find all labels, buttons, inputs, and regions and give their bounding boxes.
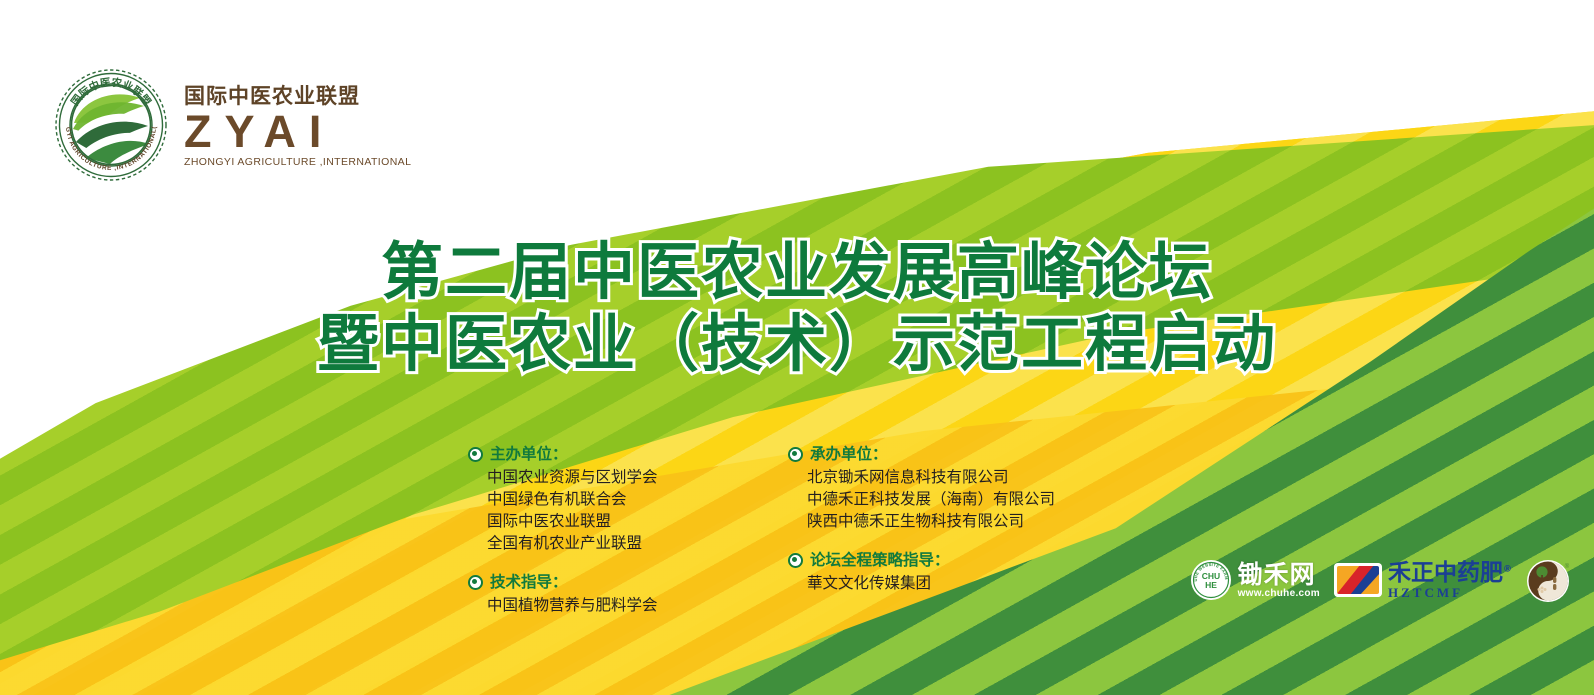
- organizer-heading-coorganizer: 承办单位：: [788, 444, 1060, 465]
- list-item: 中德禾正科技发展（海南）有限公司: [788, 488, 1060, 510]
- zyai-wordmark-cn: 国际中医农业联盟: [184, 86, 411, 107]
- organizer-group-host: 主办单位： 中国农业资源与区划学会 中国绿色有机联合会 国际中医农业联盟 全国有…: [468, 444, 740, 554]
- bullet-icon: [468, 447, 483, 462]
- hztcmf-mark-icon: [1334, 563, 1382, 597]
- list-item: 中国农业资源与区划学会: [468, 466, 740, 488]
- event-title-line-1-text: 第二届中医农业发展高峰论坛: [381, 235, 1213, 308]
- bullet-icon: [468, 575, 483, 590]
- organizer-heading-host: 主办单位：: [468, 444, 740, 465]
- organizer-heading-coorganizer-text: 承办单位：: [810, 444, 888, 465]
- list-item: 華文文化传媒集团: [788, 572, 1060, 594]
- list-item: 中国绿色有机联合会: [468, 488, 740, 510]
- sponsor-chuhe: CHUHE WEBSITE FARMING CHU HE 锄禾网 www.chu…: [1190, 559, 1320, 601]
- organizer-heading-tech-guidance-text: 技术指导：: [490, 572, 568, 593]
- organizer-group-coorganizer: 承办单位： 北京锄禾网信息科技有限公司 中德禾正科技发展（海南）有限公司 陕西中…: [788, 444, 1060, 532]
- hztcmf-name: 禾正中药肥®: [1388, 562, 1512, 585]
- sponsor-logos: CHUHE WEBSITE FARMING CHU HE 锄禾网 www.chu…: [1190, 557, 1572, 603]
- zyai-wordmark-abbr: ZYAI: [184, 109, 411, 154]
- organizer-column-left: 主办单位： 中国农业资源与区划学会 中国绿色有机联合会 国际中医农业联盟 全国有…: [468, 444, 740, 634]
- conference-banner: 国际中医农业联盟 ZHONGYI AGRICULTURE ,INTERNATIO…: [0, 0, 1594, 695]
- organizer-group-tech-guidance: 技术指导： 中国植物营养与肥料学会: [468, 572, 740, 616]
- organizer-heading-host-text: 主办单位：: [490, 444, 568, 465]
- event-title-line-1: 第二届中医农业发展高峰论坛: [0, 236, 1594, 308]
- event-title-line-2-text: 暨中医农业（技术）示范工程启动: [317, 307, 1277, 380]
- organizer-info: 主办单位： 中国农业资源与区划学会 中国绿色有机联合会 国际中医农业联盟 全国有…: [468, 444, 1060, 634]
- chuhe-seal-icon: CHUHE WEBSITE FARMING CHU HE: [1190, 559, 1232, 601]
- list-item: 北京锄禾网信息科技有限公司: [788, 466, 1060, 488]
- svg-text:HE: HE: [1205, 580, 1217, 590]
- hztcmf-abbr: HZTCMF: [1388, 586, 1512, 599]
- sponsor-hztcmf: 禾正中药肥® HZTCMF: [1334, 562, 1512, 599]
- list-item: 中国植物营养与肥料学会: [468, 594, 740, 616]
- organizer-group-strategy: 论坛全程策略指导： 華文文化传媒集团: [788, 550, 1060, 594]
- organizer-heading-strategy-text: 论坛全程策略指导：: [810, 550, 950, 571]
- sponsor-yinyang-tree-seal-icon: ®: [1526, 557, 1572, 603]
- organizer-column-right: 承办单位： 北京锄禾网信息科技有限公司 中德禾正科技发展（海南）有限公司 陕西中…: [788, 444, 1060, 634]
- list-item: 国际中医农业联盟: [468, 510, 740, 532]
- organizer-heading-tech-guidance: 技术指导：: [468, 572, 740, 593]
- hztcmf-text-block: 禾正中药肥® HZTCMF: [1388, 562, 1512, 599]
- chuhe-text-block: 锄禾网 www.chuhe.com: [1238, 562, 1320, 599]
- chuhe-name: 锄禾网: [1238, 562, 1320, 587]
- event-title: 第二届中医农业发展高峰论坛 暨中医农业（技术）示范工程启动: [0, 236, 1594, 380]
- hztcmf-trademark: ®: [1503, 564, 1512, 574]
- organizer-heading-strategy: 论坛全程策略指导：: [788, 550, 1060, 571]
- zyai-wordmark-en: ZHONGYI AGRICULTURE ,INTERNATIONAL: [184, 157, 411, 168]
- list-item: 陕西中德禾正生物科技有限公司: [788, 510, 1060, 532]
- hztcmf-name-text: 禾正中药肥: [1388, 560, 1503, 586]
- list-item: 全国有机农业产业联盟: [468, 532, 740, 554]
- svg-text:®: ®: [1565, 563, 1570, 570]
- chuhe-url: www.chuhe.com: [1238, 589, 1320, 599]
- zyai-logo-block: 国际中医农业联盟 ZHONGYI AGRICULTURE ,INTERNATIO…: [52, 66, 411, 184]
- zyai-circular-seal-icon: 国际中医农业联盟 ZHONGYI AGRICULTURE ,INTERNATIO…: [52, 66, 170, 184]
- zyai-wordmark: 国际中医农业联盟 ZYAI ZHONGYI AGRICULTURE ,INTER…: [184, 82, 411, 168]
- bullet-icon: [788, 447, 803, 462]
- event-title-line-2: 暨中医农业（技术）示范工程启动: [0, 308, 1594, 380]
- bullet-icon: [788, 553, 803, 568]
